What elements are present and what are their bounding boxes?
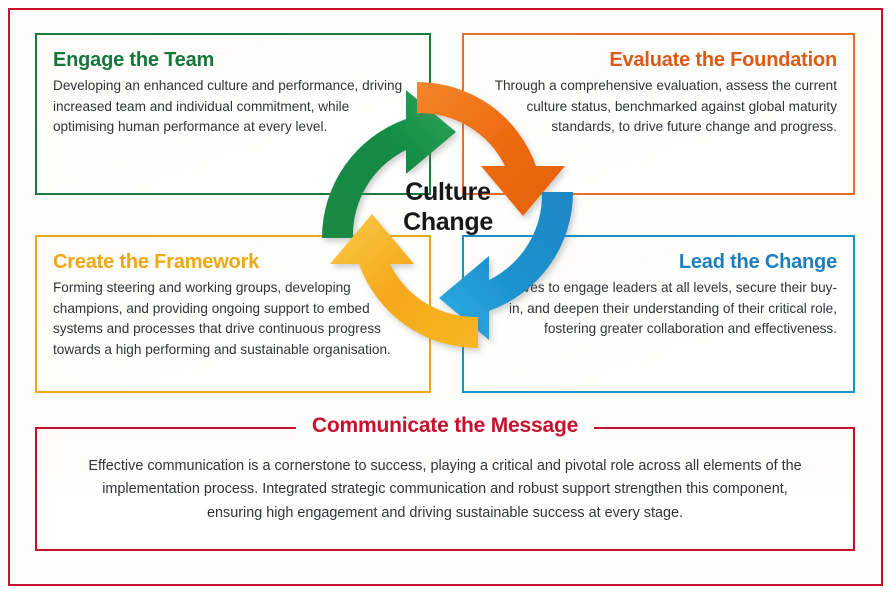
card-create-the-framework[interactable]: Create the Framework Forming steering an…	[35, 235, 431, 393]
panel-communicate-the-message[interactable]: Communicate the Message Effective commun…	[35, 427, 855, 551]
center-label-line-1: Culture	[363, 178, 533, 208]
card-framework-title: Create the Framework	[53, 251, 413, 274]
card-evaluate-title: Evaluate the Foundation	[480, 49, 837, 72]
card-framework-body: Forming steering and working groups, dev…	[53, 278, 413, 361]
card-engage-title: Engage the Team	[53, 49, 413, 72]
center-hub-label: Culture Change	[363, 178, 533, 237]
card-lead-body: Initiatives to engage leaders at all lev…	[480, 278, 837, 340]
card-evaluate-body: Through a comprehensive evaluation, asse…	[480, 76, 837, 138]
panel-communicate-body: Effective communication is a cornerstone…	[37, 429, 853, 525]
card-lead-the-change[interactable]: Lead the Change Initiatives to engage le…	[462, 235, 855, 393]
panel-communicate-title: Communicate the Message	[296, 414, 594, 438]
card-engage-the-team[interactable]: Engage the Team Developing an enhanced c…	[35, 33, 431, 195]
card-engage-body: Developing an enhanced culture and perfo…	[53, 76, 413, 138]
center-label-line-2: Change	[363, 208, 533, 238]
card-evaluate-the-foundation[interactable]: Evaluate the Foundation Through a compre…	[462, 33, 855, 195]
card-lead-title: Lead the Change	[480, 251, 837, 274]
culture-change-infographic: Engage the Team Developing an enhanced c…	[0, 0, 891, 594]
